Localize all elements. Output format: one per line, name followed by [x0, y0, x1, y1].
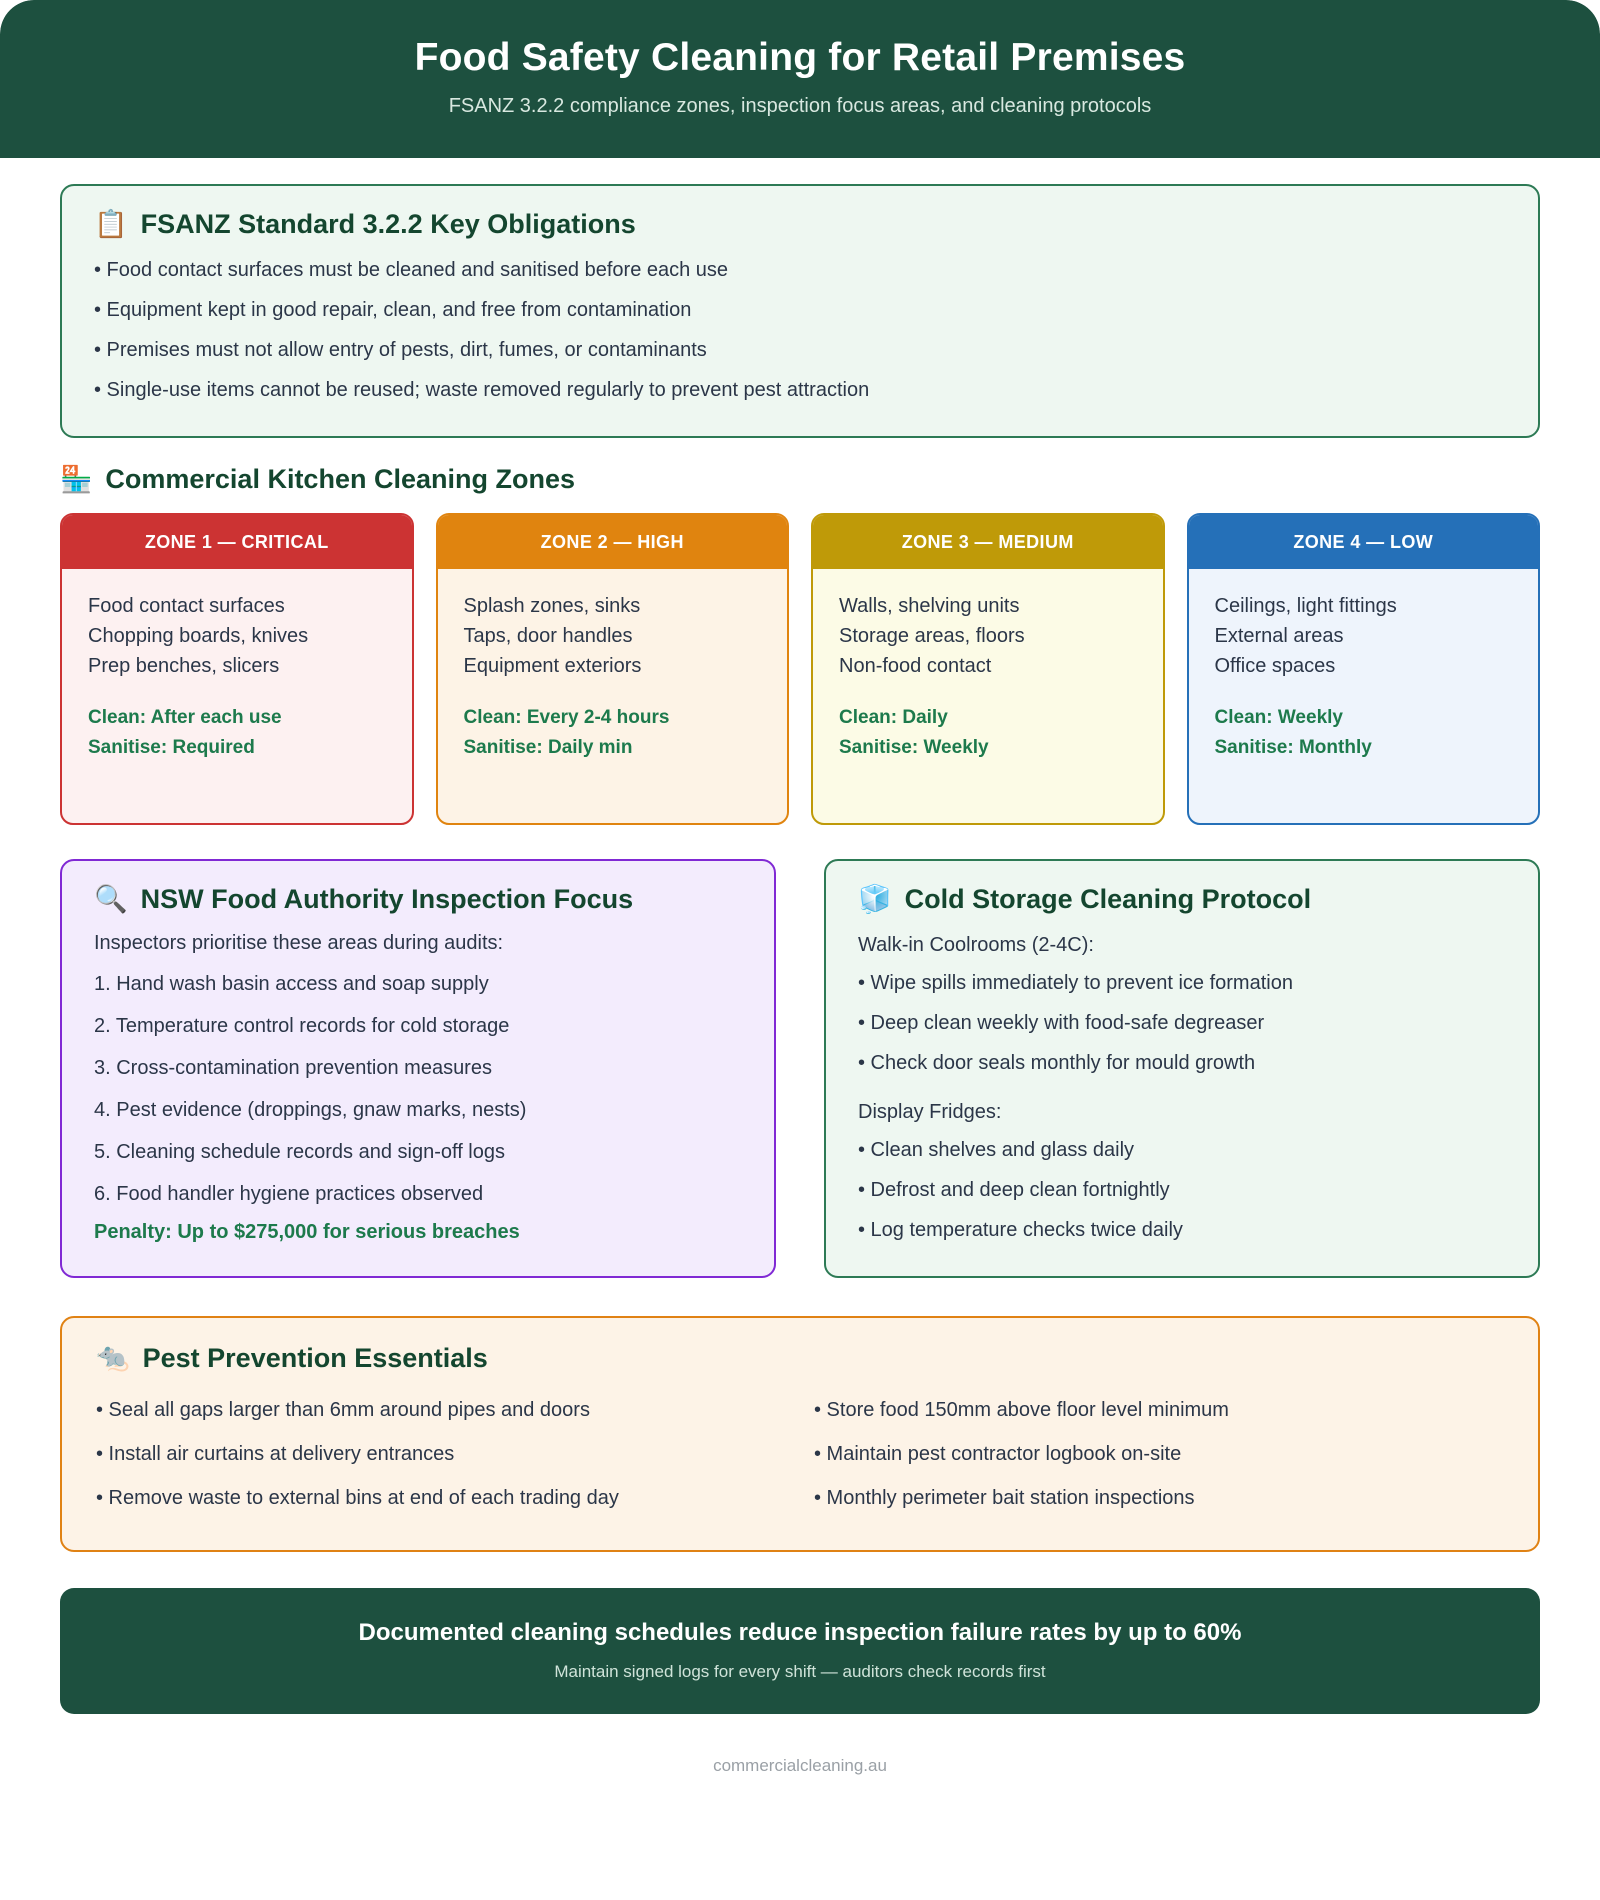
rat-icon: 🐀 — [96, 1344, 130, 1371]
zone-card-3: ZONE 3 — MEDIUM Walls, shelving units St… — [811, 513, 1165, 825]
pest-column-right: • Store food 150mm above floor level min… — [814, 1388, 1504, 1520]
zone-item: Taps, door handles — [464, 621, 762, 651]
display-fridge-item: • Defrost and deep clean fortnightly — [858, 1170, 1506, 1210]
cold-storage-card: 🧊 Cold Storage Cleaning Protocol Walk-in… — [824, 859, 1540, 1277]
zones-heading-label: Commercial Kitchen Cleaning Zones — [105, 464, 575, 495]
inspection-item: 5. Cleaning schedule records and sign-of… — [94, 1131, 742, 1173]
inspection-focus-card: 🔍 NSW Food Authority Inspection Focus In… — [60, 859, 776, 1277]
mid-row: 🔍 NSW Food Authority Inspection Focus In… — [60, 859, 1540, 1277]
zone-body-4: Ceilings, light fittings External areas … — [1189, 569, 1539, 823]
pest-column-left: • Seal all gaps larger than 6mm around p… — [96, 1388, 786, 1520]
zone-sanitise-frequency: Sanitise: Daily min — [464, 733, 762, 762]
page-body: 📋 FSANZ Standard 3.2.2 Key Obligations •… — [0, 158, 1600, 1806]
page-header: Food Safety Cleaning for Retail Premises… — [0, 0, 1600, 158]
zone-header-4: ZONE 4 — LOW — [1189, 515, 1539, 569]
zone-item: Prep benches, slicers — [88, 651, 386, 681]
zones-section-heading: 🏪 Commercial Kitchen Cleaning Zones — [60, 464, 1540, 495]
zone-body-3: Walls, shelving units Storage areas, flo… — [813, 569, 1163, 823]
zones-grid: ZONE 1 — CRITICAL Food contact surfaces … — [60, 513, 1540, 825]
obligation-item: • Premises must not allow entry of pests… — [94, 330, 1506, 370]
pest-item: • Install air curtains at delivery entra… — [96, 1432, 786, 1476]
pest-item: • Maintain pest contractor logbook on-si… — [814, 1432, 1504, 1476]
zone-item: External areas — [1215, 621, 1513, 651]
zone-header-2: ZONE 2 — HIGH — [438, 515, 788, 569]
zone-clean-frequency: Clean: After each use — [88, 703, 386, 732]
display-fridge-item: • Log temperature checks twice daily — [858, 1210, 1506, 1250]
infographic-page: Food Safety Cleaning for Retail Premises… — [0, 0, 1600, 1900]
obligations-title: FSANZ Standard 3.2.2 Key Obligations — [141, 208, 636, 240]
zone-item: Office spaces — [1215, 651, 1513, 681]
clipboard-icon: 📋 — [94, 211, 128, 238]
pest-title-row: 🐀 Pest Prevention Essentials — [96, 1342, 1504, 1374]
zone-item: Walls, shelving units — [839, 591, 1137, 621]
zone-card-1: ZONE 1 — CRITICAL Food contact surfaces … — [60, 513, 414, 825]
zone-clean-frequency: Clean: Daily — [839, 703, 1137, 732]
store-building-icon: 🏪 — [60, 464, 92, 495]
inspection-lead: Inspectors prioritise these areas during… — [94, 930, 742, 963]
zone-item: Equipment exteriors — [464, 651, 762, 681]
penalty-note: Penalty: Up to $275,000 for serious brea… — [94, 1215, 742, 1244]
zone-body-2: Splash zones, sinks Taps, door handles E… — [438, 569, 788, 823]
coolroom-item: • Wipe spills immediately to prevent ice… — [858, 963, 1506, 1003]
zone-clean-frequency: Clean: Weekly — [1215, 703, 1513, 732]
zone-item: Food contact surfaces — [88, 591, 386, 621]
cold-storage-title-row: 🧊 Cold Storage Cleaning Protocol — [858, 883, 1506, 915]
cold-storage-title: Cold Storage Cleaning Protocol — [905, 883, 1312, 915]
page-subtitle: FSANZ 3.2.2 compliance zones, inspection… — [40, 95, 1560, 118]
zone-header-1: ZONE 1 — CRITICAL — [62, 515, 412, 569]
zone-header-3: ZONE 3 — MEDIUM — [813, 515, 1163, 569]
zone-item: Storage areas, floors — [839, 621, 1137, 651]
inspection-item: 3. Cross-contamination prevention measur… — [94, 1047, 742, 1089]
zone-frequency-3: Clean: Daily Sanitise: Weekly — [839, 703, 1137, 762]
zone-sanitise-frequency: Sanitise: Required — [88, 733, 386, 762]
pest-item: • Store food 150mm above floor level min… — [814, 1388, 1504, 1432]
obligations-title-row: 📋 FSANZ Standard 3.2.2 Key Obligations — [94, 208, 1506, 240]
inspection-item: 1. Hand wash basin access and soap suppl… — [94, 963, 742, 1005]
pest-title: Pest Prevention Essentials — [143, 1342, 488, 1374]
coolroom-item: • Deep clean weekly with food-safe degre… — [858, 1003, 1506, 1043]
display-fridge-item: • Clean shelves and glass daily — [858, 1130, 1506, 1170]
zone-item: Splash zones, sinks — [464, 591, 762, 621]
zone-frequency-4: Clean: Weekly Sanitise: Monthly — [1215, 703, 1513, 762]
obligations-card: 📋 FSANZ Standard 3.2.2 Key Obligations •… — [60, 184, 1540, 438]
zone-card-4: ZONE 4 — LOW Ceilings, light fittings Ex… — [1187, 513, 1541, 825]
display-fridge-group-label: Display Fridges: — [858, 1083, 1506, 1130]
zone-item: Ceilings, light fittings — [1215, 591, 1513, 621]
inspection-item: 2. Temperature control records for cold … — [94, 1005, 742, 1047]
zone-frequency-2: Clean: Every 2-4 hours Sanitise: Daily m… — [464, 703, 762, 762]
zone-clean-frequency: Clean: Every 2-4 hours — [464, 703, 762, 732]
source-attribution: commercialcleaning.au — [60, 1756, 1540, 1806]
banner-headline: Documented cleaning schedules reduce ins… — [100, 1618, 1500, 1648]
obligation-item: • Equipment kept in good repair, clean, … — [94, 290, 1506, 330]
magnifier-icon: 🔍 — [94, 886, 128, 913]
obligation-item: • Food contact surfaces must be cleaned … — [94, 250, 1506, 290]
coolroom-group-label: Walk-in Coolrooms (2-4C): — [858, 930, 1506, 963]
page-title: Food Safety Cleaning for Retail Premises — [40, 36, 1560, 81]
banner-subline: Maintain signed logs for every shift — a… — [100, 1662, 1500, 1682]
inspection-title: NSW Food Authority Inspection Focus — [141, 883, 633, 915]
inspection-title-row: 🔍 NSW Food Authority Inspection Focus — [94, 883, 742, 915]
zone-frequency-1: Clean: After each use Sanitise: Required — [88, 703, 386, 762]
obligation-item: • Single-use items cannot be reused; was… — [94, 370, 1506, 410]
zone-body-1: Food contact surfaces Chopping boards, k… — [62, 569, 412, 823]
pest-item: • Seal all gaps larger than 6mm around p… — [96, 1388, 786, 1432]
key-takeaway-banner: Documented cleaning schedules reduce ins… — [60, 1588, 1540, 1714]
zone-sanitise-frequency: Sanitise: Weekly — [839, 733, 1137, 762]
inspection-item: 4. Pest evidence (droppings, gnaw marks,… — [94, 1089, 742, 1131]
zone-card-2: ZONE 2 — HIGH Splash zones, sinks Taps, … — [436, 513, 790, 825]
ice-cube-icon: 🧊 — [858, 886, 892, 913]
pest-item: • Remove waste to external bins at end o… — [96, 1476, 786, 1520]
coolroom-item: • Check door seals monthly for mould gro… — [858, 1043, 1506, 1083]
pest-columns: • Seal all gaps larger than 6mm around p… — [96, 1388, 1504, 1520]
pest-item: • Monthly perimeter bait station inspect… — [814, 1476, 1504, 1520]
zone-item: Chopping boards, knives — [88, 621, 386, 651]
zone-item: Non-food contact — [839, 651, 1137, 681]
inspection-item: 6. Food handler hygiene practices observ… — [94, 1173, 742, 1215]
zone-sanitise-frequency: Sanitise: Monthly — [1215, 733, 1513, 762]
pest-prevention-card: 🐀 Pest Prevention Essentials • Seal all … — [60, 1316, 1540, 1552]
